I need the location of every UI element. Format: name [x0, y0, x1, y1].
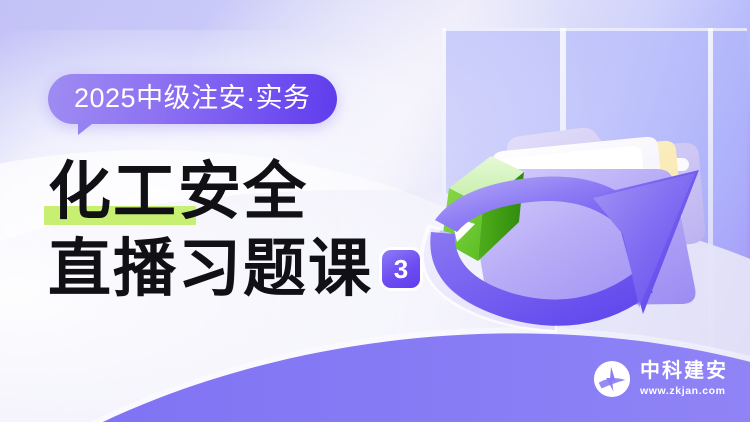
brand-name: 中科建安 — [640, 361, 728, 381]
course-badge: 2025中级注安·实务 — [48, 74, 337, 124]
logo-text: 中科建安 www.zkjan.com — [640, 361, 728, 397]
course-promo-banner: 2025中级注安·实务 化工安全 直播习题课 3 中科建安 www.zkjan.… — [0, 0, 750, 422]
headline-block: 2025中级注安·实务 化工安全 直播习题课 3 — [0, 0, 470, 422]
title-line-2: 直播习题课 3 — [48, 237, 420, 300]
brand-url: www.zkjan.com — [640, 386, 728, 397]
title-line-2-text: 直播习题课 — [48, 237, 373, 300]
course-badge-label: 2025中级注安·实务 — [48, 74, 337, 124]
logo-circle-icon — [593, 360, 631, 398]
page-title: 化工安全 直播习题课 3 — [48, 160, 420, 300]
course-badge-tail — [78, 120, 97, 135]
episode-number-badge: 3 — [382, 250, 420, 288]
brand-logo: 中科建安 www.zkjan.com — [593, 360, 728, 398]
title-line-1-text: 化工安全 — [48, 154, 308, 228]
title-line-1: 化工安全 — [48, 160, 420, 223]
